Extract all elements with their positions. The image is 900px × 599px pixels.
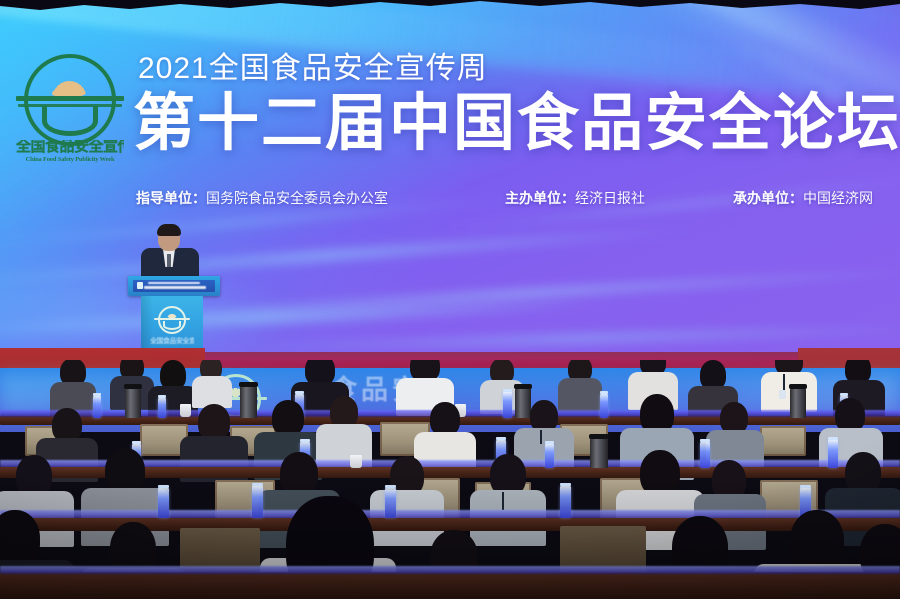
person-head [198,404,230,440]
backdrop-subtitle: 2021全国食品安全宣传周 [138,52,488,86]
thermos-lid [514,384,532,389]
podium-banner-text-line [148,282,200,284]
logo-chopstick-icon [16,96,124,101]
thermos [790,388,806,418]
teacup [180,404,191,417]
thermos [240,386,257,418]
organizer-label: 指导单位： [136,190,206,206]
thermos-lid [589,434,609,439]
bottle-cap [560,483,571,486]
bottle-cap [252,483,263,486]
logo-chopstick-icon [154,318,190,320]
lanyard [502,492,504,510]
organizer-value: 国务院食品安全委员会办公室 [206,190,388,206]
bottle-cap [600,391,608,394]
wisp-streak [200,322,900,354]
water-bottle [93,396,101,418]
water-bottle [600,394,608,418]
bottle-cap [800,485,811,488]
badge-icon [779,390,786,399]
organizer-undertaker: 承办单位：中国经济网 [733,189,873,207]
bottle-cap [828,437,838,440]
podium-banner-logo-icon [137,282,143,289]
chair [760,426,806,456]
person-head [52,408,82,442]
water-bottle [560,486,571,518]
bottle-cap [385,485,396,488]
person-head [430,402,460,436]
bottle-cap [545,441,554,444]
bottle-cap [93,393,101,396]
person-body [761,372,817,412]
bottle-cap [840,393,848,396]
person-head [835,398,865,432]
lanyard [540,430,542,444]
organizer-label: 承办单位： [733,190,803,206]
bottle-cap [300,439,310,442]
water-bottle [158,398,166,418]
podium-banner-text-line [144,286,206,289]
backdrop-main-title: 第十二届中国食品安全论坛 [133,88,900,160]
logo-bowl-icon [163,321,181,330]
podium-and-speaker: 全国食品安全宣传周 [128,224,220,359]
water-bottle [385,488,396,518]
organizer-guidance: 指导单位：国务院食品安全委员会办公室 [136,189,388,207]
food-safety-week-logo: 全国食品安全宣传周 China Food Safety Publicity We… [14,52,126,160]
podium-plate-text: 全国食品安全宣传周 [150,336,194,346]
podium-logo [154,306,190,336]
lanyard [783,374,785,390]
organizer-host: 主办单位：经济日报社 [505,189,645,207]
person-body [558,378,602,412]
speaker-tie [167,254,171,267]
thermos-lid [124,384,142,389]
speaker-hair [157,224,181,236]
bottle-cap [700,439,710,442]
thermos [515,388,531,418]
teacup [350,455,362,468]
organizer-label: 主办单位： [505,190,575,206]
bottle-cap [496,437,506,440]
bottle-cap [158,395,166,398]
podium-shading [141,296,153,356]
audience-area [0,360,900,599]
bottle-cap [132,441,141,444]
water-bottle [252,486,263,518]
desk-row-foreground [0,572,900,599]
water-bottle [828,440,838,468]
person-head [272,400,304,436]
bottle-cap [503,389,512,392]
bottle-cap [158,485,169,488]
logo-english-name: China Food Safety Publicity Week [16,156,124,164]
thermos [590,438,608,468]
thermos [125,388,141,418]
water-bottle [503,392,512,418]
conference-photo: 全国食品安全宣传周 China Food Safety Publicity We… [0,0,900,599]
logo-chinese-name: 全国食品安全宣传周 [16,140,124,155]
organizer-value: 经济日报社 [575,190,645,206]
desk-glow-strip [0,566,900,574]
thermos-lid [239,382,258,387]
water-bottle [545,444,554,468]
person-head [790,510,844,572]
water-bottle [158,488,169,518]
bottle-cap [295,391,304,394]
thermos-lid [789,384,807,389]
water-bottle [700,442,710,468]
logo-sunburst-icon [36,60,104,98]
organizer-value: 中国经济网 [803,190,873,206]
logo-bowl-icon [42,106,98,136]
